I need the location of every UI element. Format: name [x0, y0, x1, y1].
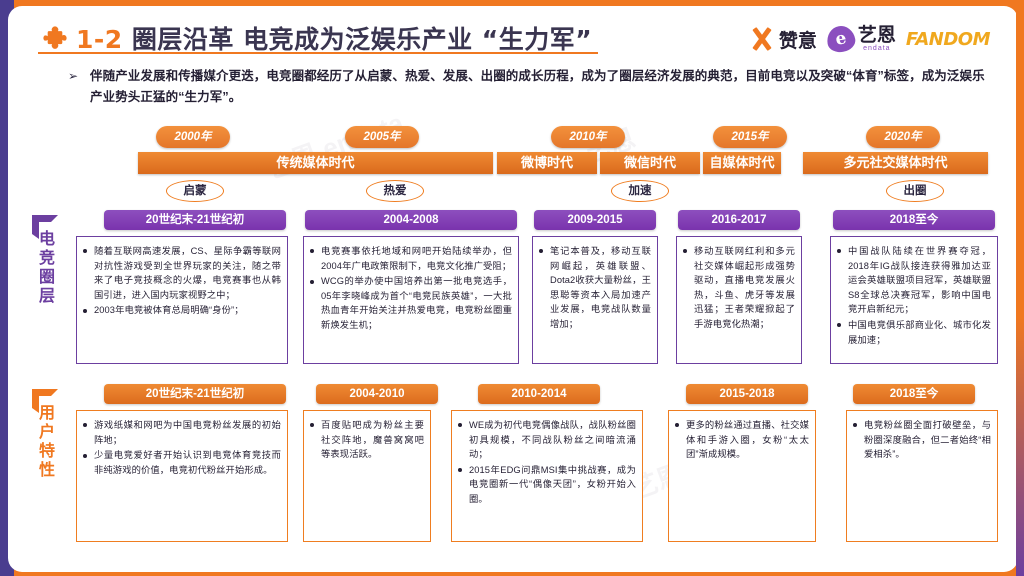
bullet-list: 中国战队陆续在世界赛夺冠，2018年IG战队接连获得雅加达亚运会英雄联盟项目冠军…: [835, 244, 991, 347]
bullet-item: 百度贴吧成为粉丝主要社交阵地，魔兽窝窝吧等表现活跃。: [308, 418, 424, 462]
section-header: 2009-2015: [534, 210, 656, 230]
timeline-year-pill: 2005年: [345, 126, 419, 148]
timeline-year-pill: 2000年: [156, 126, 230, 148]
bullet-item: 中国电竞俱乐部商业化、城市化发展加速；: [835, 318, 991, 347]
content-box: 更多的粉丝通过直播、社交媒体和手游入圈，女粉“太太团”渐成规模。: [668, 410, 816, 542]
row-label-text: 用户特性: [39, 404, 61, 480]
section-header: 2015-2018: [686, 384, 808, 404]
section-header: 2018至今: [833, 210, 995, 230]
bullet-list: 电竞粉丝圈全面打破壁垒，与粉圈深度融合，但二者始终“相爱相杀”。: [851, 418, 991, 462]
puzzle-piece-icon: [42, 25, 68, 51]
bullet-item: 笔记本普及，移动互联网崛起，英雄联盟、Dota2收获大量粉丝，王思聪等资本入局加…: [537, 244, 651, 332]
endata-e-icon: e: [825, 24, 857, 54]
section-header: 20世纪末-21世纪初: [104, 384, 286, 404]
timeline-stage-pill: 出圈: [886, 180, 944, 202]
bullet-list: WE成为初代电竞偶像战队，战队粉丝圈初具规模，不同战队粉丝之间暗流涌动；2015…: [456, 418, 636, 507]
content-box: 电竞粉丝圈全面打破壁垒，与粉圈深度融合，但二者始终“相爱相杀”。: [846, 410, 998, 542]
row-label-text: 电竞圈层: [39, 230, 61, 306]
timeline-era-bar: 传统媒体时代: [138, 152, 493, 174]
timeline-year-pill: 2020年: [866, 126, 940, 148]
timeline-year-pill: 2015年: [713, 126, 787, 148]
timeline-stage-pill: 加速: [611, 180, 669, 202]
x-mark-icon: [749, 26, 775, 52]
timeline-year-pill: 2010年: [551, 126, 625, 148]
timeline-stage-pill: 热爱: [366, 180, 424, 202]
bullet-list: 百度贴吧成为粉丝主要社交阵地，魔兽窝窝吧等表现活跃。: [308, 418, 424, 462]
section-header: 2004-2008: [305, 210, 517, 230]
content-box: 游戏纸媒和网吧为中国电竞粉丝发展的初始阵地；少量电竞爱好者开始认识到电竞体育竞技…: [76, 410, 288, 542]
timeline-era-bar: 多元社交媒体时代: [803, 152, 988, 174]
section-header: 2016-2017: [678, 210, 800, 230]
content-box: 中国战队陆续在世界赛夺冠，2018年IG战队接连获得雅加达亚运会英雄联盟项目冠军…: [830, 236, 998, 364]
endata-logo: e 艺恩 endata: [827, 26, 896, 52]
bullet-item: 电竞赛事依托地域和网吧开始陆续举办，但2004年广电政策限制下，电竞文化推广受阻…: [308, 244, 512, 273]
bullet-list: 电竞赛事依托地域和网吧开始陆续举办，但2004年广电政策限制下，电竞文化推广受阻…: [308, 244, 512, 333]
slide-canvas: 艺恩 endata 赞意 艺恩 赞意 艺恩 endata 赞意 1-2 圈层沿革…: [8, 6, 1018, 572]
zanyi-logo: 赞意: [749, 26, 817, 53]
section-header: 2010-2014: [478, 384, 600, 404]
bullet-item: 少量电竞爱好者开始认识到电竞体育竞技而非纯游戏的价值，电竞初代粉丝开始形成。: [81, 448, 281, 477]
slide-page: 艺恩 endata 赞意 艺恩 赞意 艺恩 endata 赞意 1-2 圈层沿革…: [0, 0, 1024, 576]
bullet-item: 更多的粉丝通过直播、社交媒体和手游入圈，女粉“太太团”渐成规模。: [673, 418, 809, 462]
content-box: 随着互联网高速发展，CS、星际争霸等联网对抗性游戏受到全世界玩家的关注，随之带来…: [76, 236, 288, 364]
arrow-bullet-icon: ➢: [68, 69, 78, 83]
logo-group: 赞意 e 艺恩 endata FANDOM: [749, 20, 990, 58]
fandom-logo-label: FANDOM: [906, 29, 990, 50]
page-title-number: 1-2: [76, 25, 123, 54]
bullet-item: 电竞粉丝圈全面打破壁垒，与粉圈深度融合，但二者始终“相爱相杀”。: [851, 418, 991, 462]
lead-paragraph-block: ➢ 伴随产业发展和传播媒介更迭，电竞圈都经历了从启蒙、热爱、发展、出圈的成长历程…: [68, 66, 988, 108]
timeline-era-bar: 微信时代: [600, 152, 700, 174]
bullet-item: 中国战队陆续在世界赛夺冠，2018年IG战队接连获得雅加达亚运会英雄联盟项目冠军…: [835, 244, 991, 317]
content-box: 移动互联网红利和多元社交媒体崛起形成强势驱动，直播电竞发展火热，斗鱼、虎牙等发展…: [676, 236, 802, 364]
bullet-list: 游戏纸媒和网吧为中国电竞粉丝发展的初始阵地；少量电竞爱好者开始认识到电竞体育竞技…: [81, 418, 281, 477]
bullet-list: 笔记本普及，移动互联网崛起，英雄联盟、Dota2收获大量粉丝，王思聪等资本入局加…: [537, 244, 651, 332]
section-header: 2004-2010: [316, 384, 438, 404]
page-title-text: 圈层沿革 电竞成为泛娱乐产业 “生力军”: [132, 25, 592, 54]
bullet-item: 移动互联网红利和多元社交媒体崛起形成强势驱动，直播电竞发展火热，斗鱼、虎牙等发展…: [681, 244, 795, 332]
section-header: 20世纪末-21世纪初: [104, 210, 286, 230]
title-underline: [38, 52, 598, 54]
timeline-years: 2000年2005年2010年2015年2020年: [8, 126, 1018, 150]
bullet-item: 随着互联网高速发展，CS、星际争霸等联网对抗性游戏受到全世界玩家的关注，随之带来…: [81, 244, 281, 302]
bullet-item: 游戏纸媒和网吧为中国电竞粉丝发展的初始阵地；: [81, 418, 281, 447]
endata-logo-label-en: endata: [858, 45, 896, 52]
timeline-eras: 传统媒体时代微博时代微信时代自媒体时代多元社交媒体时代: [8, 152, 1018, 174]
bullet-item: 2003年电竞被体育总局明确“身份”；: [81, 303, 281, 318]
timeline-era-bar: 自媒体时代: [703, 152, 781, 174]
section-header: 2018至今: [853, 384, 975, 404]
content-box: 笔记本普及，移动互联网崛起，英雄联盟、Dota2收获大量粉丝，王思聪等资本入局加…: [532, 236, 658, 364]
content-box: WE成为初代电竞偶像战队，战队粉丝圈初具规模，不同战队粉丝之间暗流涌动；2015…: [451, 410, 643, 542]
lead-paragraph-text: 伴随产业发展和传播媒介更迭，电竞圈都经历了从启蒙、热爱、发展、出圈的成长历程，成…: [90, 66, 988, 108]
endata-logo-label-cn: 艺恩: [858, 26, 896, 45]
bullet-item: WCG的举办使中国培养出第一批电竞选手，05年李晓峰成为首个“电竞民族英雄”，一…: [308, 274, 512, 332]
bullet-list: 随着互联网高速发展，CS、星际争霸等联网对抗性游戏受到全世界玩家的关注，随之带来…: [81, 244, 281, 318]
page-title: 1-2 圈层沿革 电竞成为泛娱乐产业 “生力军”: [76, 20, 592, 56]
content-box: 百度贴吧成为粉丝主要社交阵地，魔兽窝窝吧等表现活跃。: [303, 410, 431, 542]
bullet-list: 移动互联网红利和多元社交媒体崛起形成强势驱动，直播电竞发展火热，斗鱼、虎牙等发展…: [681, 244, 795, 332]
zanyi-logo-label: 赞意: [779, 26, 817, 53]
content-box: 电竞赛事依托地域和网吧开始陆续举办，但2004年广电政策限制下，电竞文化推广受阻…: [303, 236, 519, 364]
bullet-item: 2015年EDG问鼎MSI集中挑战赛，成为电竞圈新一代“偶像天团”，女粉开始入圈…: [456, 463, 636, 507]
timeline-stages: 启蒙热爱加速出圈: [8, 180, 1018, 204]
timeline-stage-pill: 启蒙: [166, 180, 224, 202]
timeline-era-bar: 微博时代: [497, 152, 597, 174]
bullet-list: 更多的粉丝通过直播、社交媒体和手游入圈，女粉“太太团”渐成规模。: [673, 418, 809, 462]
right-edge-strip: [1016, 0, 1024, 576]
bullet-item: WE成为初代电竞偶像战队，战队粉丝圈初具规模，不同战队粉丝之间暗流涌动；: [456, 418, 636, 462]
